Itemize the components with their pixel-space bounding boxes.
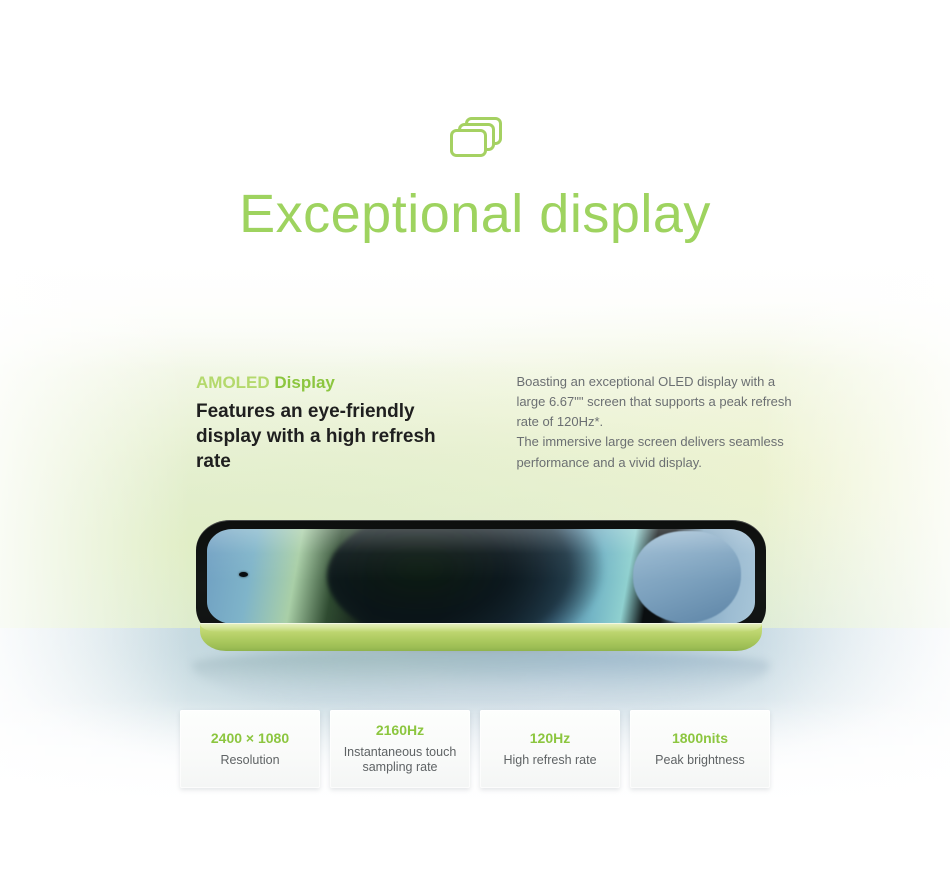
feature-copy-left: AMOLED Display Features an eye-friendly … (196, 372, 436, 475)
product-image-smartphone (196, 520, 766, 700)
layers-stack-icon (0, 112, 950, 164)
display-feature-page: Exceptional display AMOLED Display Featu… (0, 0, 950, 883)
feature-paragraph-2: The immersive large screen delivers seam… (516, 432, 796, 472)
spec-card-resolution: 2400 × 1080 Resolution (180, 710, 320, 788)
spec-label: Peak brightness (655, 753, 745, 769)
spec-value: 2400 × 1080 (211, 730, 289, 747)
spec-label: Resolution (220, 753, 279, 769)
feature-copy-right: Boasting an exceptional OLED display wit… (516, 372, 796, 475)
page-title: Exceptional display (0, 186, 950, 243)
spec-card-peak-brightness: 1800nits Peak brightness (630, 710, 770, 788)
feature-headline: Features an eye-friendly display with a … (196, 399, 436, 475)
phone-screen (207, 529, 755, 624)
spec-card-refresh-rate: 120Hz High refresh rate (480, 710, 620, 788)
feature-eyebrow: AMOLED Display (196, 372, 436, 395)
spec-value: 1800nits (672, 730, 728, 747)
feature-paragraph-1: Boasting an exceptional OLED display wit… (516, 372, 796, 432)
feature-eyebrow-amoled: AMOLED (196, 373, 270, 392)
spec-label: High refresh rate (503, 753, 596, 769)
feature-eyebrow-display: Display (274, 373, 334, 392)
page-header: Exceptional display (0, 0, 950, 243)
phone-rail-highlight (200, 623, 762, 632)
spec-label: Instantaneous touch sampling rate (336, 745, 464, 776)
spec-card-touch-sampling-rate: 2160Hz Instantaneous touch sampling rate (330, 710, 470, 788)
phone-side-rail (200, 623, 762, 651)
spec-card-list: 2400 × 1080 Resolution 2160Hz Instantane… (180, 710, 770, 788)
phone-body (196, 520, 766, 638)
spec-value: 2160Hz (376, 722, 424, 739)
spec-value: 120Hz (530, 730, 570, 747)
front-camera-punch-hole (239, 572, 248, 577)
feature-copy-block: AMOLED Display Features an eye-friendly … (196, 372, 796, 475)
screen-glare (207, 529, 755, 624)
